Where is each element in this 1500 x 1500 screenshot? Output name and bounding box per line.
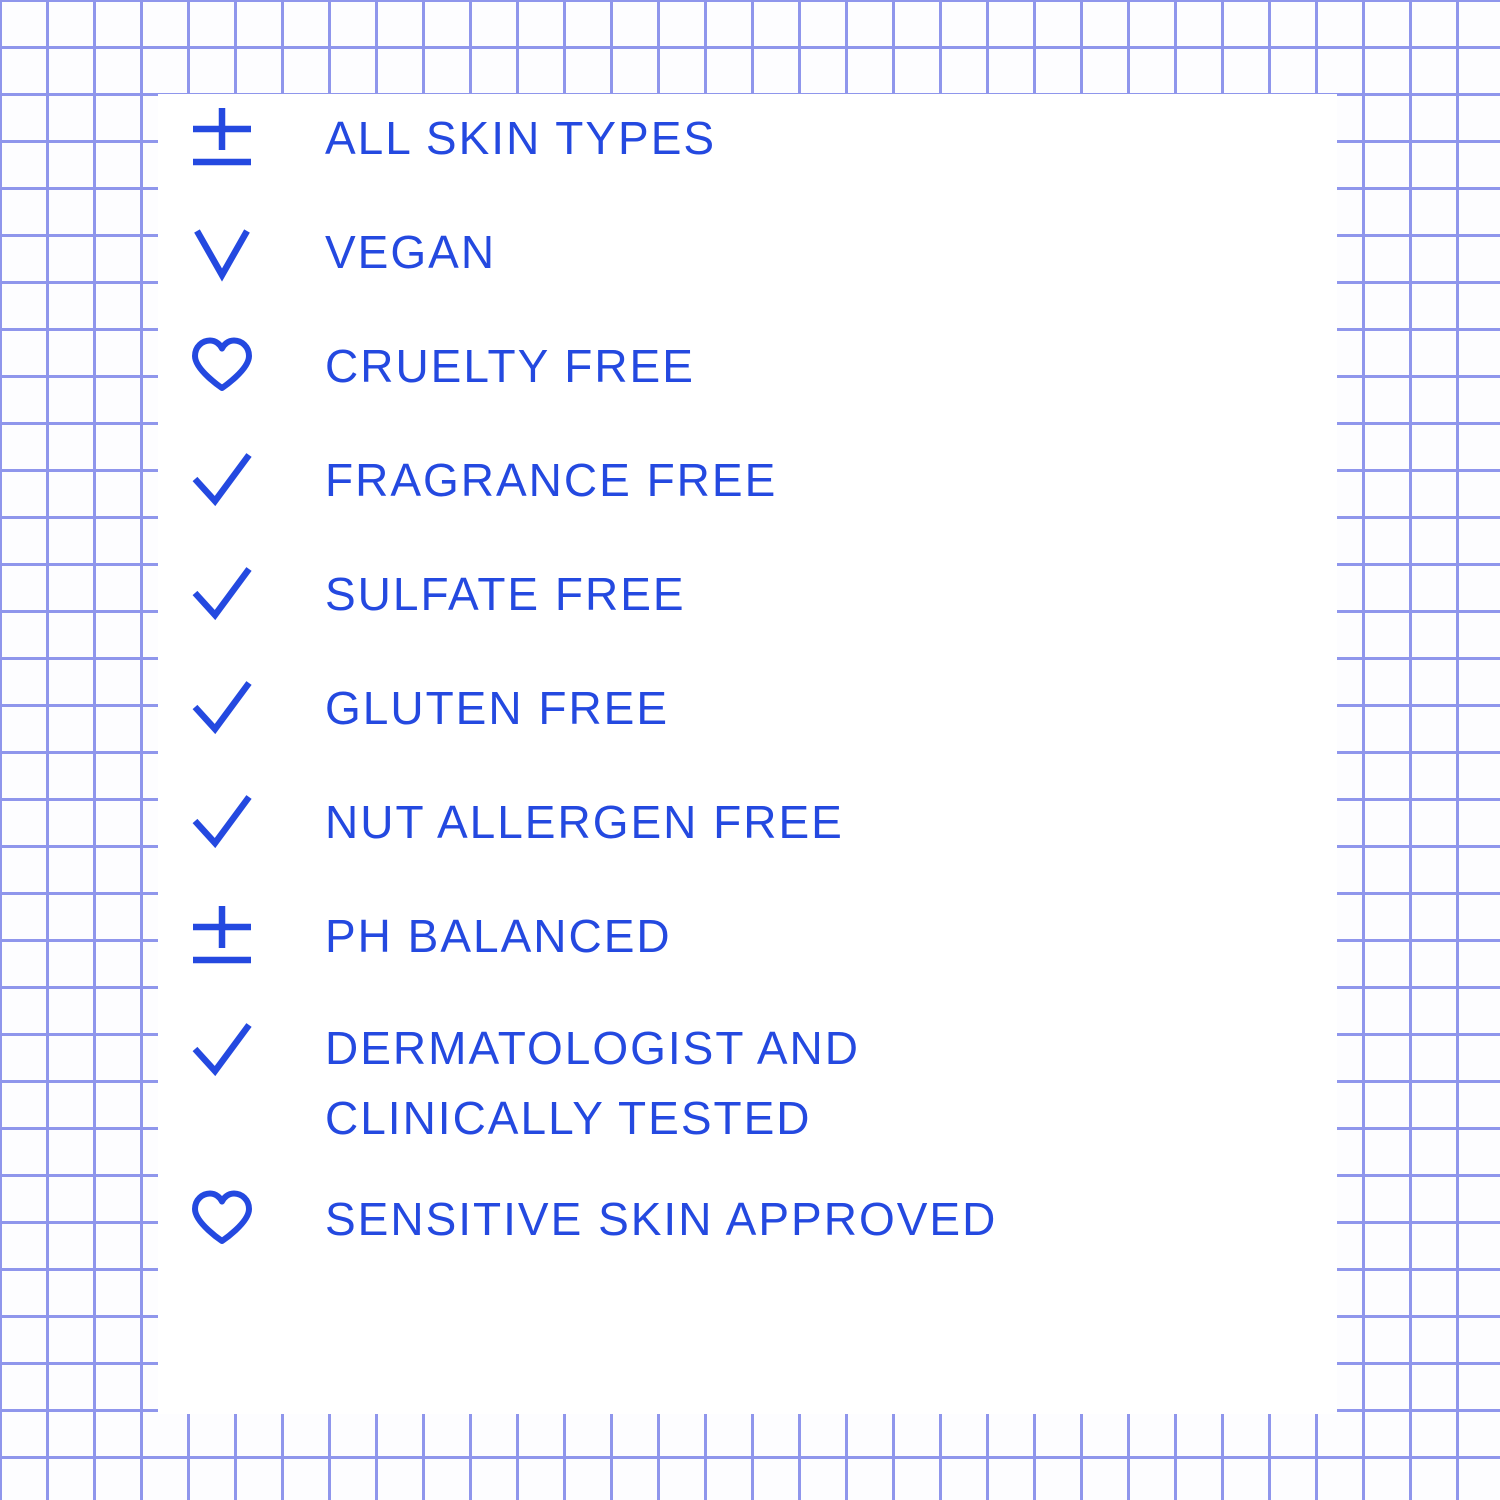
plus-minus-icon (185, 898, 325, 974)
grid-line-vertical (1456, 0, 1459, 1500)
product-claims-list: ALL SKIN TYPES VEGAN CRUELTY FREE FRAGRA… (185, 100, 1185, 1295)
heart-icon (185, 328, 325, 404)
claim-label: NUT ALLERGEN FREE (325, 784, 844, 859)
grid-line-horizontal (0, 0, 1500, 2)
claim-row: NUT ALLERGEN FREE (185, 784, 1185, 860)
grid-line-vertical (93, 0, 96, 1500)
claim-row: FRAGRANCE FREE (185, 442, 1185, 518)
plus-minus-icon (185, 100, 325, 176)
claim-row: PH BALANCED (185, 898, 1185, 974)
checkmark-icon (185, 784, 325, 860)
claim-row: GLUTEN FREE (185, 670, 1185, 746)
v-chevron-icon (185, 214, 325, 290)
claim-row: SENSITIVE SKIN APPROVED (185, 1181, 1185, 1257)
heart-icon (185, 1181, 325, 1257)
claim-row: CRUELTY FREE (185, 328, 1185, 404)
grid-line-vertical (0, 0, 2, 1500)
grid-line-vertical (1409, 0, 1412, 1500)
grid-line-horizontal (0, 1456, 1500, 1459)
claim-label: CRUELTY FREE (325, 328, 695, 403)
claim-row: ALL SKIN TYPES (185, 100, 1185, 176)
claim-row: DERMATOLOGIST AND CLINICALLY TESTED (185, 1012, 1185, 1153)
claim-label: VEGAN (325, 214, 496, 289)
claim-label: SENSITIVE SKIN APPROVED (325, 1181, 997, 1256)
claim-label: PH BALANCED (325, 898, 672, 973)
claim-row: VEGAN (185, 214, 1185, 290)
claim-label: ALL SKIN TYPES (325, 100, 716, 175)
grid-line-horizontal (0, 46, 1500, 49)
claim-label: FRAGRANCE FREE (325, 442, 777, 517)
graph-paper-canvas: ALL SKIN TYPES VEGAN CRUELTY FREE FRAGRA… (0, 0, 1500, 1500)
claim-label: GLUTEN FREE (325, 670, 669, 745)
grid-line-vertical (46, 0, 49, 1500)
checkmark-icon (185, 1012, 325, 1088)
claim-label: SULFATE FREE (325, 556, 686, 631)
claim-row: SULFATE FREE (185, 556, 1185, 632)
checkmark-icon (185, 442, 325, 518)
grid-line-vertical (1362, 0, 1365, 1500)
checkmark-icon (185, 556, 325, 632)
claim-label: DERMATOLOGIST AND CLINICALLY TESTED (325, 1012, 860, 1153)
grid-line-vertical (140, 0, 143, 1500)
checkmark-icon (185, 670, 325, 746)
